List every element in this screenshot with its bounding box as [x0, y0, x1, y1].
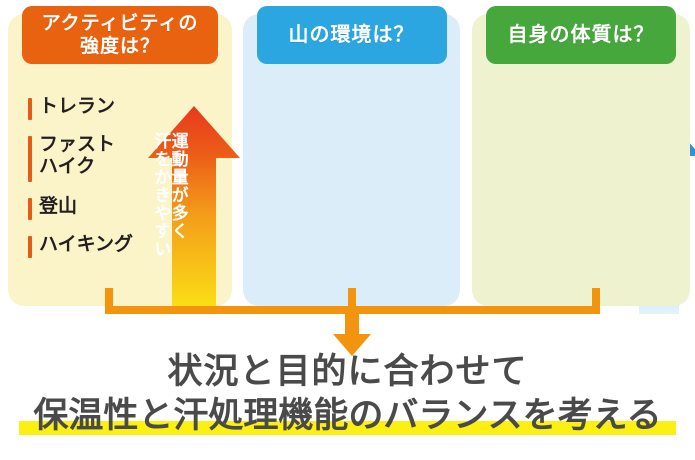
body-panel-header: 自身の体質は？: [486, 6, 676, 64]
orange-bracket-connector-icon: [95, 288, 610, 360]
list-item: ファスト ハイク: [28, 134, 148, 182]
conclusion-line-2-label: 保温性と汗処理機能のバランスを考える: [33, 396, 661, 435]
conclusion-line-1: 状況と目的に合わせて: [0, 352, 695, 392]
list-item-label: ハイキング: [39, 234, 133, 256]
activity-item-list: トレラン ファスト ハイク 登山 ハイキング: [28, 96, 148, 272]
bullet-bar-icon: [28, 198, 32, 220]
conclusion-line-2: 保温性と汗処理機能のバランスを考える: [29, 396, 665, 436]
bullet-bar-icon: [28, 98, 32, 120]
bullet-bar-icon: [28, 236, 32, 258]
list-item-label: 登山: [39, 196, 77, 218]
environment-panel-header: 山の環境は？: [257, 6, 447, 64]
conclusion-text: 状況と目的に合わせて 保温性と汗処理機能のバランスを考える: [0, 352, 695, 436]
infographic-canvas: アクティビティの 強度は？ トレラン ファスト ハイク 登山 ハイキング: [0, 0, 695, 460]
list-item: 登山: [28, 196, 148, 220]
bullet-bar-icon: [28, 136, 32, 182]
environment-panel: 山の環境は？ 3,000m級 雪山 森林限界を 超えない雪山 積雪することが あ…: [243, 14, 460, 306]
list-item-label: ファスト ハイク: [39, 134, 115, 179]
list-item-label: トレラン: [39, 96, 115, 118]
up-arrow-sweat-icon: 運動量が多く 汗をかきやすい: [146, 104, 242, 316]
list-item: ハイキング: [28, 234, 148, 258]
list-item: トレラン: [28, 96, 148, 120]
body-constitution-panel: 自身の体質は？ 汗っかき 寒がり: [472, 14, 690, 306]
activity-panel: アクティビティの 強度は？ トレラン ファスト ハイク 登山 ハイキング: [8, 14, 232, 306]
activity-panel-header: アクティビティの 強度は？: [22, 6, 218, 64]
arrow-label: 運動量が多く 汗をかきやすい: [152, 132, 187, 302]
